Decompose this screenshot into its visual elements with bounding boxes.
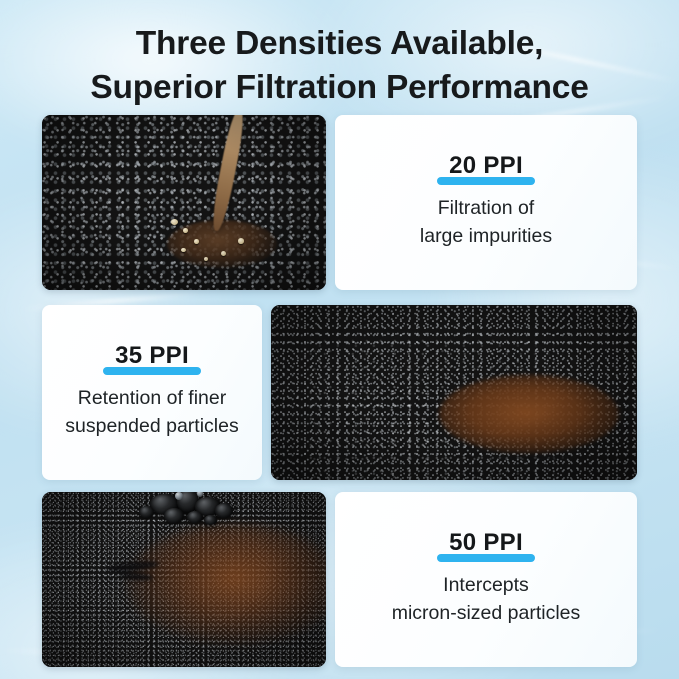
description-line-2: large impurities xyxy=(420,223,552,251)
description-line-2: micron-sized particles xyxy=(392,600,581,628)
foam-photo-20ppi xyxy=(42,115,326,290)
feature-row-35ppi: 35 PPI Retention of finer suspended part… xyxy=(42,305,637,480)
feature-text-panel-50ppi: 50 PPI Intercepts micron-sized particles xyxy=(335,492,637,667)
foam-photo-35ppi xyxy=(271,305,637,480)
ppi-label: 35 PPI xyxy=(112,344,192,368)
feature-row-50ppi: 50 PPI Intercepts micron-sized particles xyxy=(42,492,637,667)
ppi-label: 50 PPI xyxy=(446,531,526,555)
ppi-label: 20 PPI xyxy=(446,154,526,178)
ppi-badge-50: 50 PPI xyxy=(446,531,526,555)
product-feature-graphic: Three Densities Available, Superior Filt… xyxy=(0,0,679,679)
feature-description-50ppi: Intercepts micron-sized particles xyxy=(392,572,581,627)
feature-description-35ppi: Retention of finer suspended particles xyxy=(65,385,238,440)
foam-photo-50ppi xyxy=(42,492,326,667)
feature-description-20ppi: Filtration of large impurities xyxy=(420,195,552,250)
headline-line-2: Superior Filtration Performance xyxy=(28,66,651,110)
feature-text-panel-35ppi: 35 PPI Retention of finer suspended part… xyxy=(42,305,262,480)
headline-line-1: Three Densities Available, xyxy=(28,22,651,66)
description-line-1: Filtration of xyxy=(420,195,552,223)
description-line-1: Intercepts xyxy=(392,572,581,600)
ppi-badge-35: 35 PPI xyxy=(112,344,192,368)
ppi-badge-20: 20 PPI xyxy=(446,154,526,178)
headline: Three Densities Available, Superior Filt… xyxy=(0,22,679,110)
description-line-1: Retention of finer xyxy=(65,385,238,413)
feature-row-20ppi: 20 PPI Filtration of large impurities xyxy=(42,115,637,290)
feature-text-panel-20ppi: 20 PPI Filtration of large impurities xyxy=(335,115,637,290)
description-line-2: suspended particles xyxy=(65,413,238,441)
